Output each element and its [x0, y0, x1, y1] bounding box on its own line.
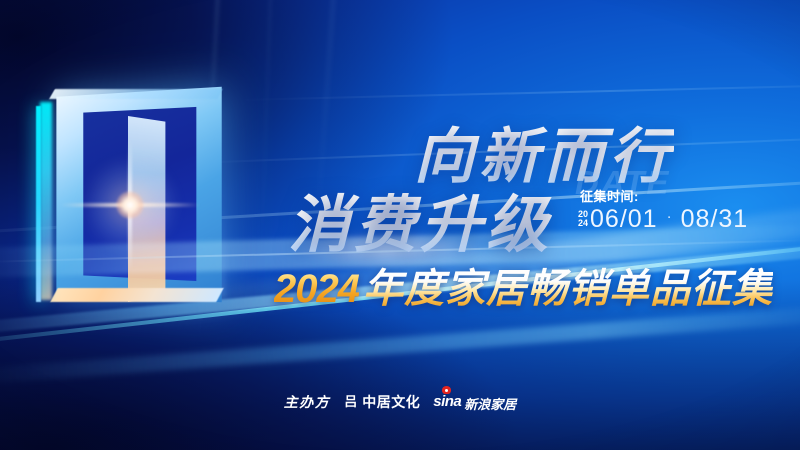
- background-vignette: [0, 0, 800, 450]
- organizer-sina: sina 新浪家居: [433, 393, 516, 411]
- sina-eye-icon: [442, 386, 451, 394]
- sina-brand: sina: [433, 393, 461, 410]
- organizer-zhongju: 吕 中居文化: [343, 392, 420, 412]
- zhongju-name: 中居文化: [362, 392, 420, 412]
- sina-name: 新浪家居: [464, 398, 516, 411]
- zhongju-logo-icon: 吕: [343, 395, 358, 410]
- footer-organizer-label: 主办方: [284, 392, 331, 412]
- sina-logo: sina: [433, 393, 461, 411]
- footer: 主办方 吕 中居文化 sina 新浪家居: [0, 392, 800, 412]
- promo-banner: 向新而行 消费升级 DATE 征集时间: 20 24 06/01 · 08/31…: [0, 0, 800, 450]
